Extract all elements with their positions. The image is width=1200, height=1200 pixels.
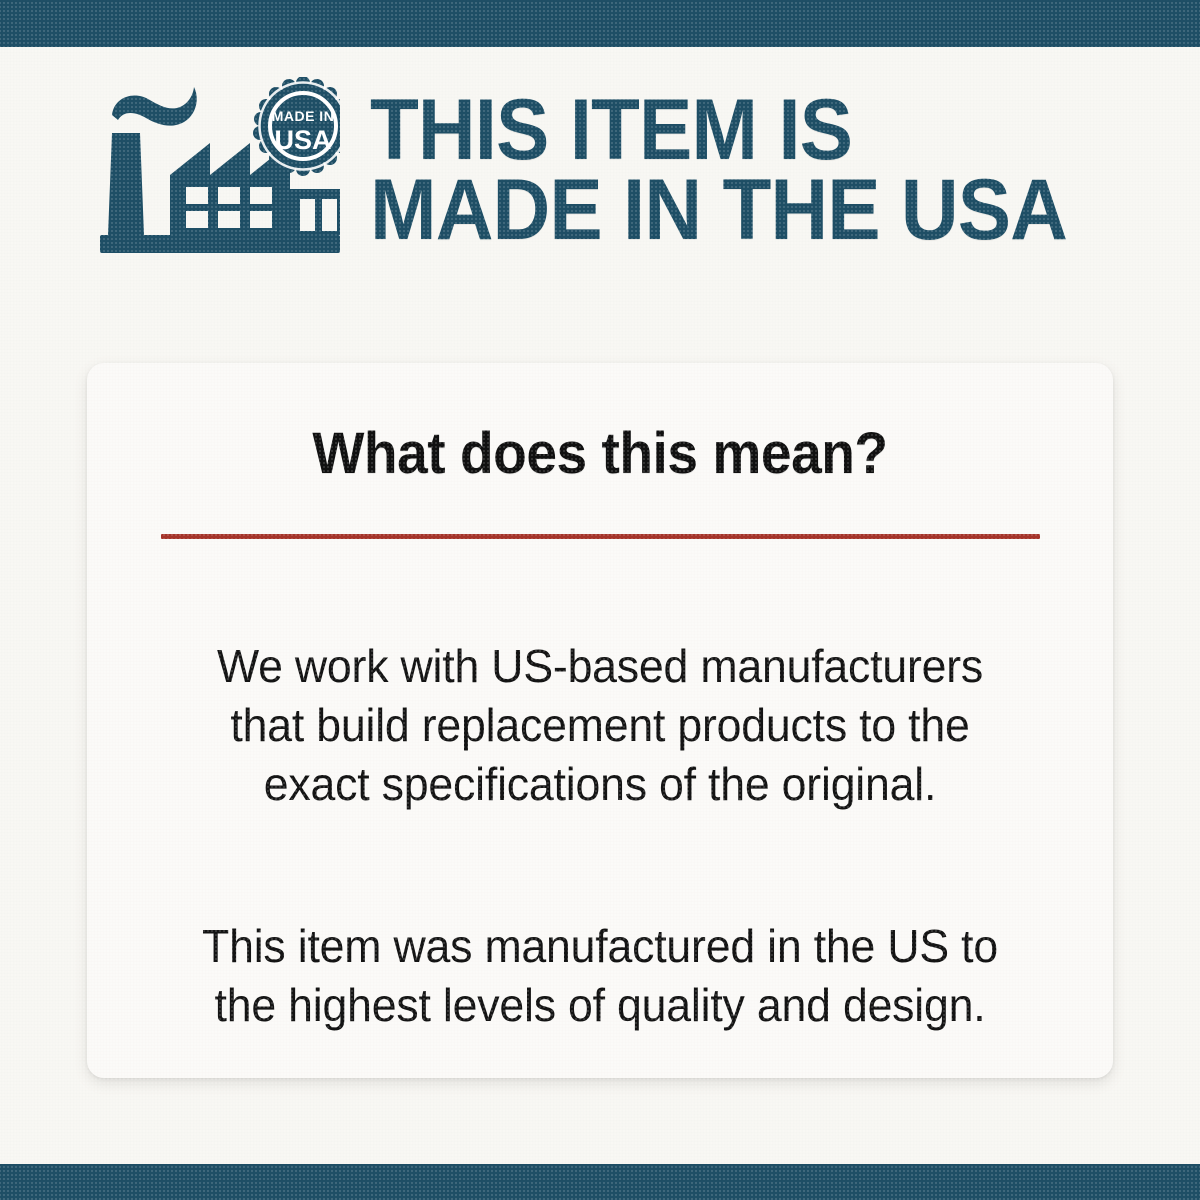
svg-text:MADE IN: MADE IN bbox=[272, 108, 335, 124]
top-accent-band bbox=[0, 0, 1200, 47]
card-paragraph-2: This item was manufactured in the US to … bbox=[141, 917, 1059, 1035]
bottom-accent-band bbox=[0, 1164, 1200, 1200]
card-paragraph-1: We work with US-based manufacturers that… bbox=[141, 637, 1059, 814]
factory-icon: MADE IN USA bbox=[100, 77, 340, 262]
svg-text:USA: USA bbox=[274, 125, 331, 155]
page-title: THIS ITEM IS MADE IN THE USA bbox=[370, 90, 1067, 250]
made-in-usa-seal-icon: MADE IN USA bbox=[253, 77, 340, 176]
made-in-usa-logo: MADE IN USA bbox=[100, 77, 340, 262]
explanation-card: What does this mean? We work with US-bas… bbox=[87, 363, 1113, 1078]
card-heading: What does this mean? bbox=[113, 423, 1088, 485]
page-canvas: MADE IN USA THIS ITEM IS MADE IN THE USA… bbox=[0, 0, 1200, 1200]
red-rule-divider bbox=[161, 534, 1040, 539]
header: MADE IN USA THIS ITEM IS MADE IN THE USA bbox=[0, 47, 1200, 292]
